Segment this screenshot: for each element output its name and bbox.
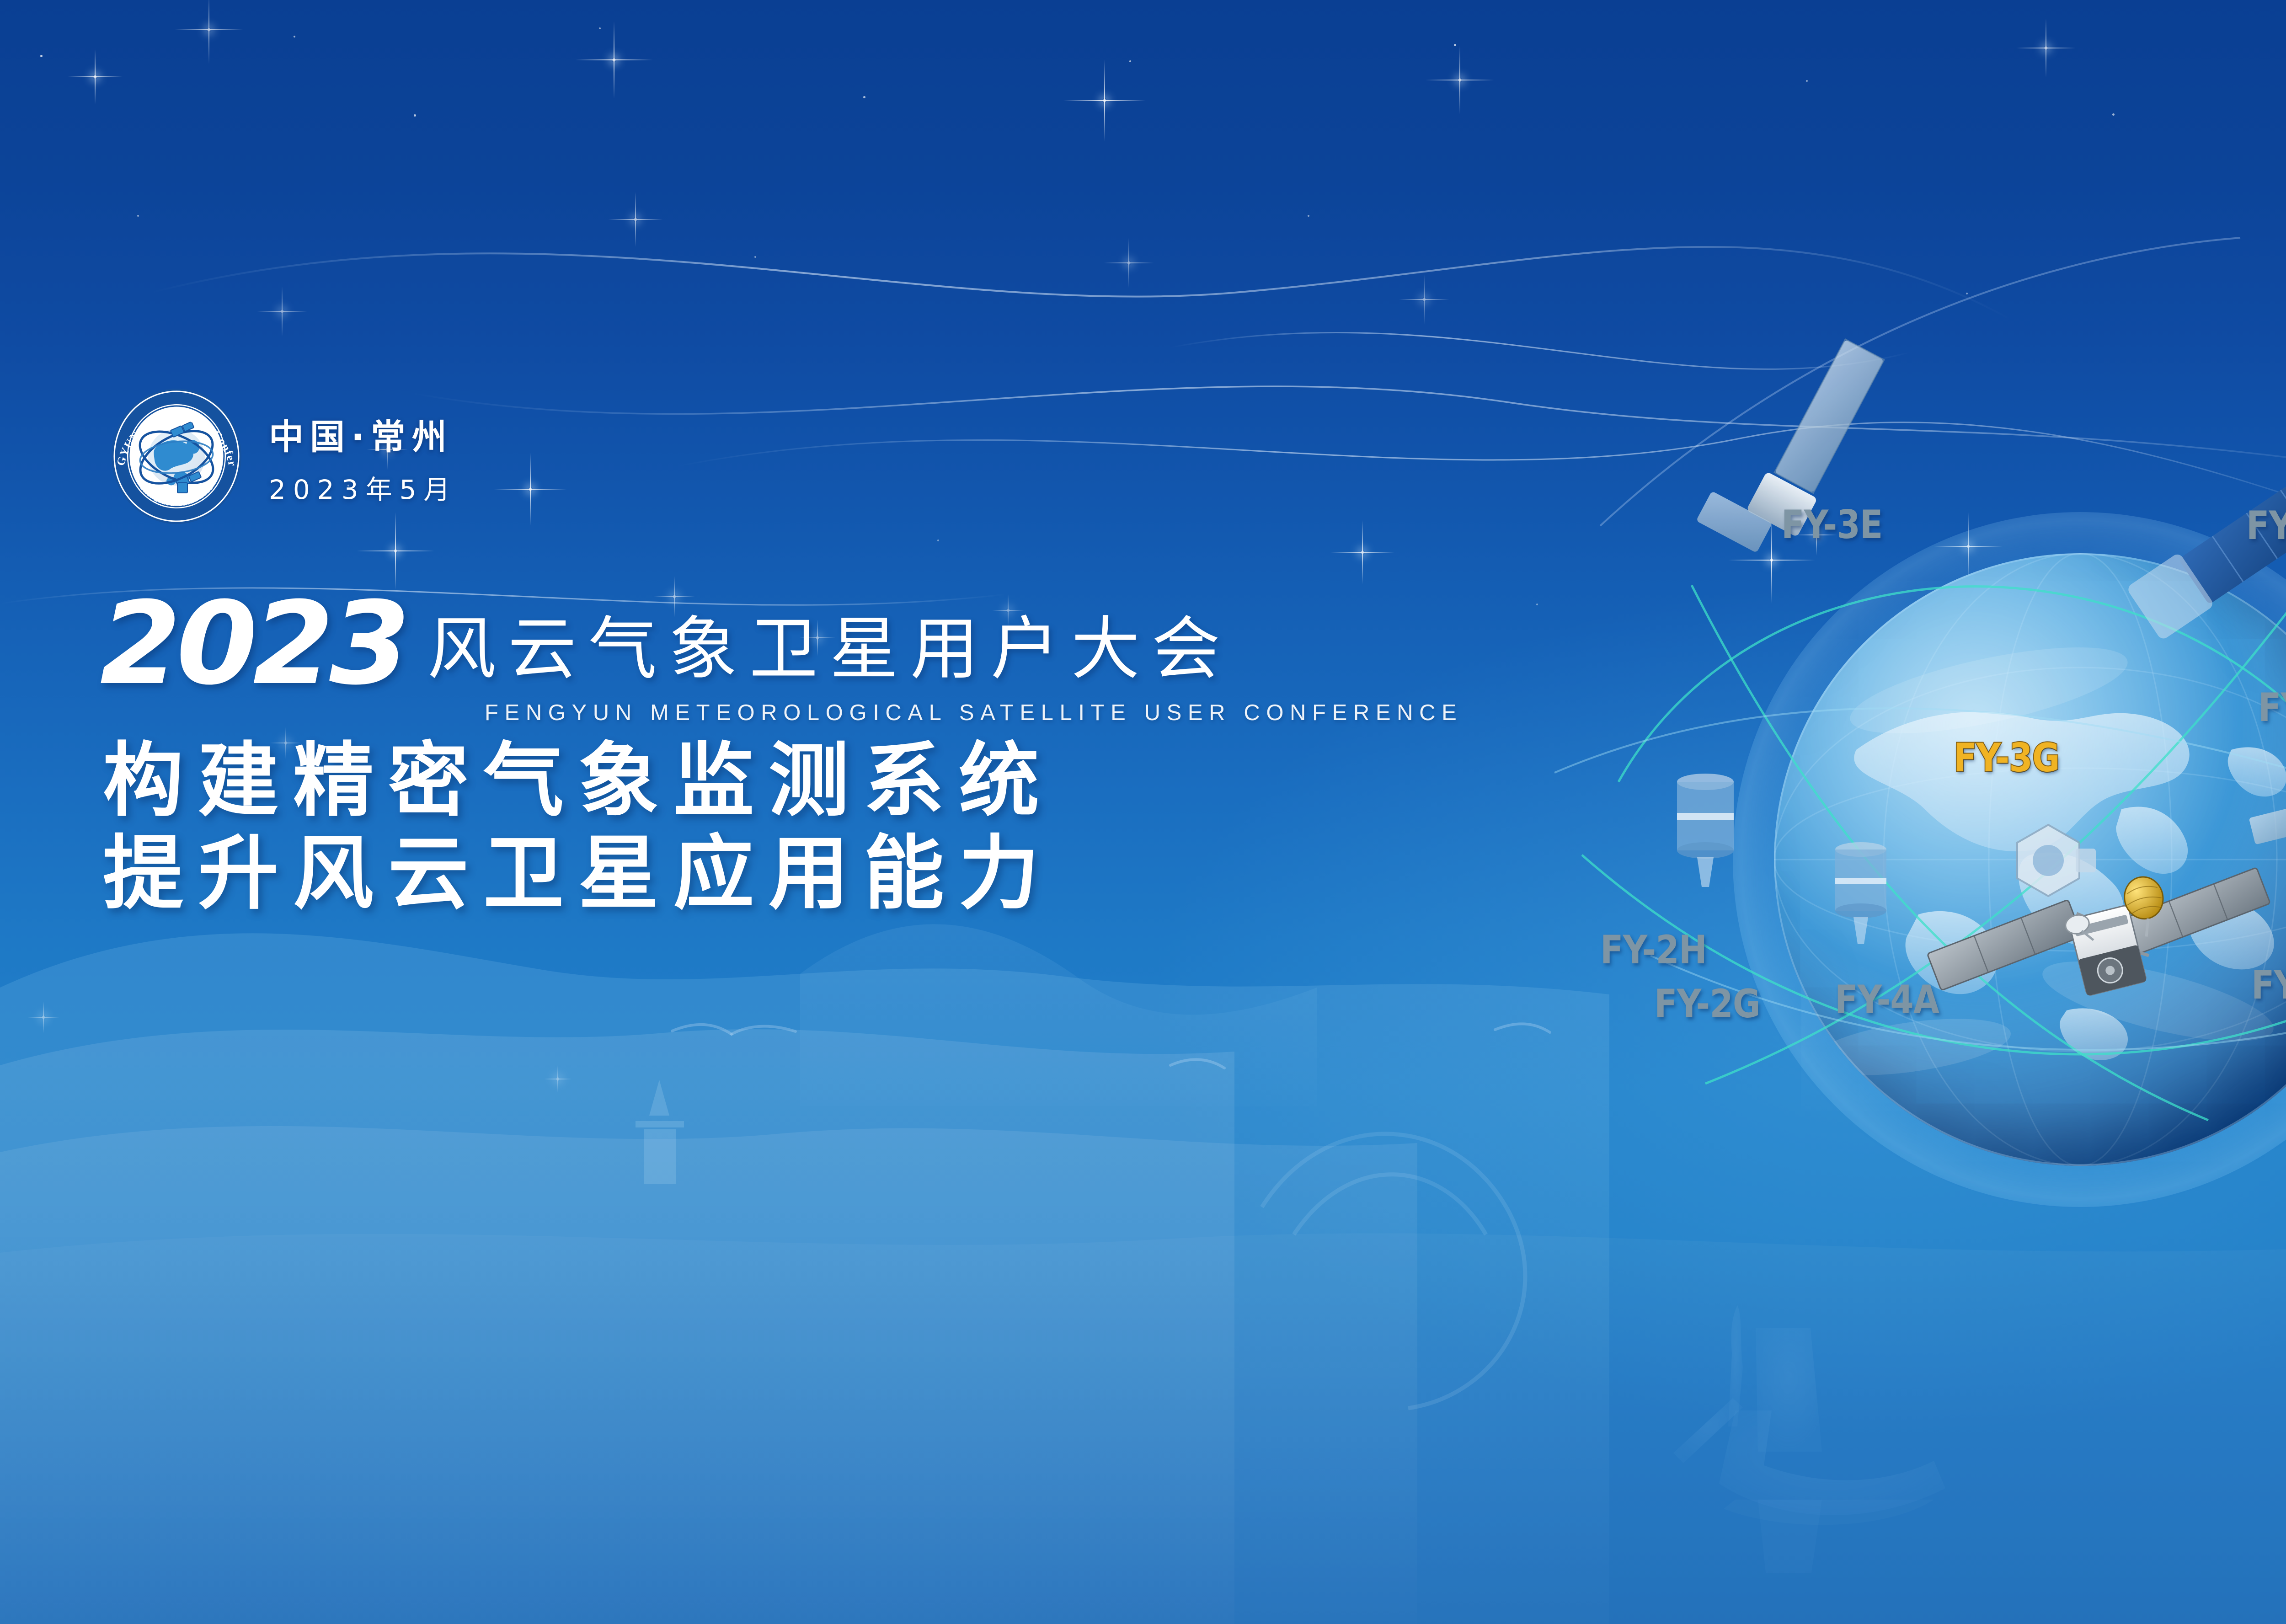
earth-globe-graphic xyxy=(1774,553,2286,1166)
year-heading: 2023 xyxy=(100,594,406,693)
satellite-label-fy-2g: FY-2G xyxy=(1654,981,1760,1027)
badge-text-block: 中国·常州 2023年5月 xyxy=(269,406,458,507)
title-block: 2023 风云气象卫星用户大会 FENGYUN METEOROLOGICAL S… xyxy=(103,594,1612,919)
satellite-label-fy-3d: FY-3D xyxy=(2258,685,2286,731)
conference-name-en: FENGYUN METEOROLOGICAL SATELLITE USER CO… xyxy=(485,700,1612,726)
host-city: 中国·常州 xyxy=(269,409,458,459)
event-date: 2023年5月 xyxy=(269,468,458,507)
satellite-label-fy-3c: FY-3C xyxy=(2246,503,2286,549)
conference-poster: FY-3E FY-3C FY-3D FY-3G FY-2H FY-2G FY-4… xyxy=(0,0,2286,1624)
fy3g-satellite xyxy=(1911,791,2286,1047)
slogan-line-2: 提升风云卫星应用能力 xyxy=(103,828,1612,919)
conference-emblem-logo: FENGYUN Satellite User Conference Changz… xyxy=(108,388,245,525)
conference-name-cn: 风云气象卫星用户大会 xyxy=(427,615,1232,693)
satellite-label-fy-4a: FY-4A xyxy=(1835,977,1939,1023)
satellite-label-fy-3e: FY-3E xyxy=(1781,502,1883,548)
satellite-label-fy-4b: FY-4B xyxy=(2251,962,2286,1008)
header-badge: FENGYUN Satellite User Conference Changz… xyxy=(108,388,458,525)
title-row: 2023 风云气象卫星用户大会 xyxy=(103,594,1612,693)
skyline-silhouette xyxy=(636,1080,684,1184)
satellite-label-fy-3g: FY-3G xyxy=(1954,735,2060,781)
satellite-label-fy-2h: FY-2H xyxy=(1600,927,1707,973)
slogan-line-1: 构建精密气象监测系统 xyxy=(103,736,1612,826)
